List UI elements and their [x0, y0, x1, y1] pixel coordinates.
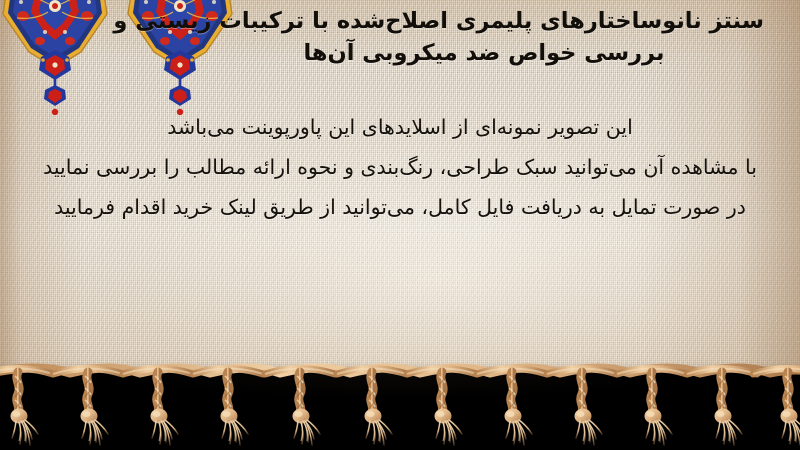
body-line-1: این تصویر نمونه‌ای از اسلایدهای این پاور… — [20, 108, 780, 148]
slide-canvas: سنتز نانوساختارهای پلیمری اصلاح‌شده با ت… — [0, 0, 800, 450]
body-line-3: در صورت تمایل به دریافت فایل کامل، می‌تو… — [20, 188, 780, 228]
title-line-2: بررسی خواص ضد میکروبی آن‌ها — [204, 38, 764, 70]
title-line-1: سنتز نانوساختارهای پلیمری اصلاح‌شده با ت… — [204, 6, 764, 38]
carpet-fringe — [0, 355, 800, 450]
carpet-pendant-1 — [39, 50, 71, 115]
slide-body: این تصویر نمونه‌ای از اسلایدهای این پاور… — [20, 108, 780, 228]
slide-title: سنتز نانوساختارهای پلیمری اصلاح‌شده با ت… — [204, 6, 764, 70]
body-line-2: با مشاهده آن می‌توانید سبک طراحی، رنگ‌بن… — [20, 148, 780, 188]
fringe-tassels — [0, 369, 800, 446]
carpet-pendant-2 — [164, 50, 196, 115]
carpet-fringe-svg — [0, 355, 800, 450]
